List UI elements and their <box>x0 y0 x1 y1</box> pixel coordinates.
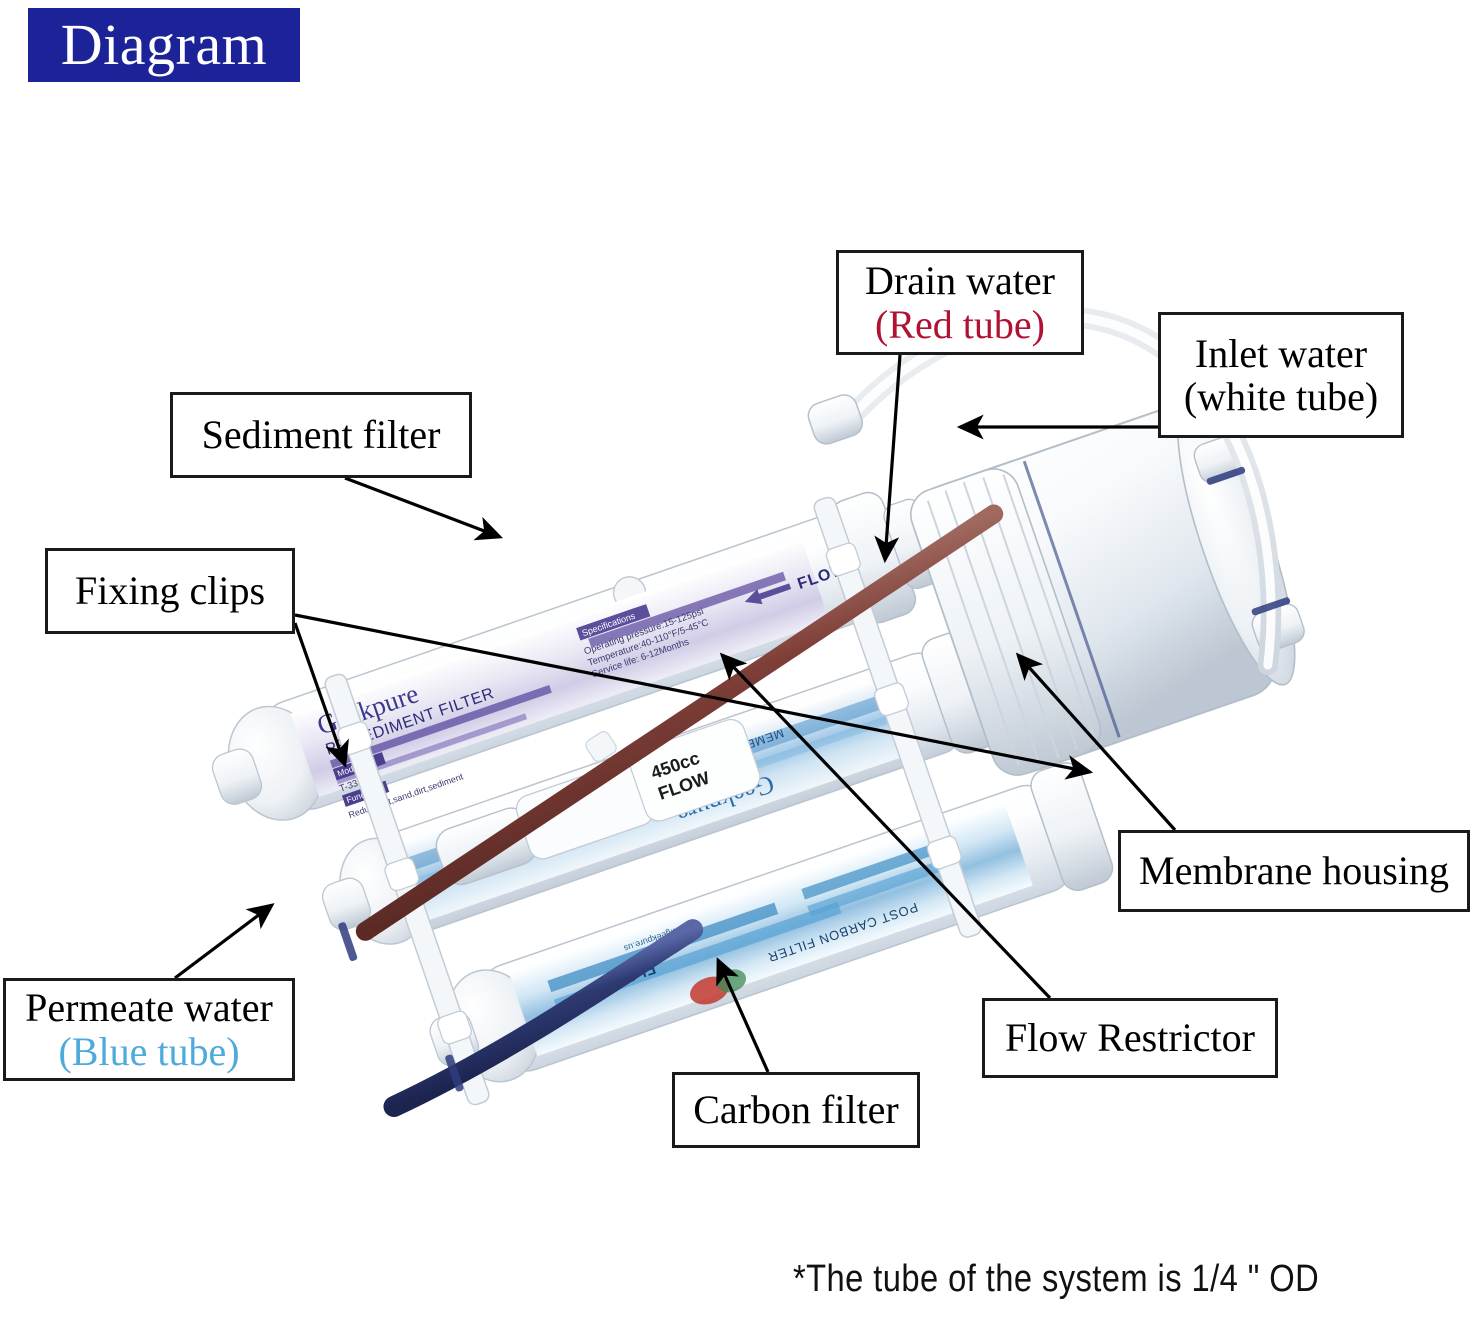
callout-permeate-water-line-2: (Blue tube) <box>58 1030 239 1073</box>
callout-inlet-water-line-2: (white tube) <box>1184 375 1378 418</box>
callout-carbon-filter[interactable]: Carbon filter <box>672 1072 920 1148</box>
diagram-canvas: Geekpure PP SEDIMENT FILTER Specificatio… <box>0 0 1479 1320</box>
callout-membrane-housing-line-1: Membrane housing <box>1139 849 1449 892</box>
callout-permeate-water-line-1: Permeate water <box>25 986 273 1029</box>
callout-inlet-water-line-1: Inlet water <box>1195 332 1367 375</box>
callout-sediment-filter[interactable]: Sediment filter <box>170 392 472 478</box>
callout-drain-water[interactable]: Drain water(Red tube) <box>836 250 1084 355</box>
callout-flow-restrictor[interactable]: Flow Restrictor <box>982 998 1278 1078</box>
callout-membrane-housing[interactable]: Membrane housing <box>1118 830 1470 912</box>
callout-inlet-water[interactable]: Inlet water(white tube) <box>1158 312 1404 438</box>
callout-flow-restrictor-line-1: Flow Restrictor <box>1005 1016 1255 1059</box>
callout-drain-water-line-2: (Red tube) <box>875 303 1045 346</box>
callout-permeate-water[interactable]: Permeate water(Blue tube) <box>3 978 295 1081</box>
callout-carbon-filter-line-1: Carbon filter <box>693 1088 899 1131</box>
callout-drain-water-line-1: Drain water <box>865 259 1055 302</box>
callout-fixing-clips[interactable]: Fixing clips <box>45 548 295 634</box>
callout-sediment-filter-line-1: Sediment filter <box>202 413 441 456</box>
callout-fixing-clips-line-1: Fixing clips <box>75 569 265 612</box>
